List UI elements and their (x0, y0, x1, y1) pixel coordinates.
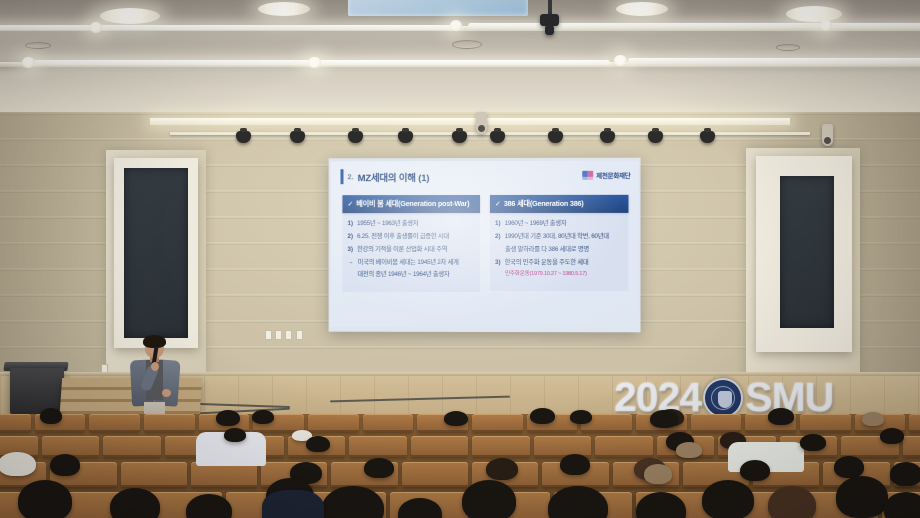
audience-member (702, 480, 754, 518)
bullet-number: 2) (347, 233, 353, 241)
audience-member (322, 486, 384, 518)
audience-member (834, 456, 864, 478)
list-item: 1) 1955년 ~ 1963년 출생자 (347, 220, 475, 228)
cove-light (150, 118, 790, 125)
list-item: 민주화운동(1979.10.27 ~ 1980.5.17) (495, 271, 623, 278)
ceiling-skylight (348, 0, 528, 16)
downlight (258, 2, 310, 16)
audience-member-with-hood (262, 490, 324, 518)
downlight (616, 2, 668, 16)
seat[interactable] (411, 436, 469, 457)
seat[interactable] (0, 414, 31, 432)
seat[interactable] (121, 462, 187, 487)
bullet-number: 3) (495, 259, 501, 267)
strip-light (468, 23, 920, 28)
seat[interactable] (595, 436, 653, 457)
foundation-logo-icon (582, 170, 593, 179)
audience-member (644, 464, 672, 484)
bullet-text: 1990년대 기준 30대, 80년대 학번, 60년대 (505, 233, 609, 241)
speaker-hand-gesture (162, 389, 171, 397)
ceiling-vent (776, 44, 800, 51)
bullet-text: 대전의 종년 1946년 ~ 1964년 출생자 (357, 271, 449, 279)
bullet-text: 한국의 민주화 운동을 주도한 세대 (505, 259, 589, 267)
seat[interactable] (349, 436, 407, 457)
audience-member (800, 434, 826, 451)
audience-member (444, 411, 468, 426)
seat[interactable] (103, 436, 161, 457)
seat[interactable] (472, 436, 530, 457)
column-heading-386: ✓386 세대(Generation 386) (490, 195, 628, 213)
strip-light (628, 58, 920, 63)
list-item: 3) 한강의 기적을 이룬 산업화 시대 주역 (347, 246, 475, 254)
foundation-logo: 제천문화재단 (582, 170, 630, 180)
strip-light (0, 25, 460, 30)
downlight (90, 22, 102, 33)
audience-member (306, 436, 330, 452)
seat[interactable] (144, 414, 195, 432)
column-heading-text: 386 세대(Generation 386) (504, 199, 584, 208)
seat[interactable] (308, 414, 359, 432)
list-item: 2) 6.25. 전쟁 이후 출생률이 급증한 시대 (347, 233, 475, 241)
check-icon: ✓ (495, 199, 501, 208)
audience-member (768, 486, 816, 518)
audience-member (676, 442, 702, 458)
audience-member (768, 408, 794, 425)
check-icon: ✓ (347, 199, 353, 208)
audience-member (50, 454, 80, 476)
light-switch[interactable] (285, 330, 292, 340)
seat[interactable] (903, 436, 920, 457)
bullet-text: 미국의 베이비붐 세대는 1945년 2차 세계 (358, 259, 459, 267)
audience-member (890, 462, 920, 486)
audience-member (560, 454, 590, 475)
column-body-babyboom: 1) 1955년 ~ 1963년 출생자 2) 6.25. 전쟁 이후 출생률이… (342, 213, 480, 292)
ceiling-vent (452, 40, 482, 49)
downlight (22, 57, 35, 68)
slide-column-babyboom: ✓베이비 붐 세대(Generation post-War) 1) 1955년 … (342, 195, 480, 292)
seat[interactable] (909, 414, 920, 432)
foundation-logo-text: 제천문화재단 (596, 170, 630, 180)
hanging-speaker (476, 112, 487, 134)
column-heading-text: 베이비 붐 세대(Generation post-War) (356, 199, 469, 208)
audience-member (880, 428, 904, 444)
list-item: 2) 1990년대 기준 30대, 80년대 학번, 60년대 (495, 233, 623, 241)
ceiling-vent (25, 42, 51, 49)
hanging-speaker (822, 124, 833, 146)
list-item: 1) 1960년 ~ 1969년 출생자 (495, 220, 623, 228)
downlight (820, 20, 832, 31)
auditorium-photo: 2. MZ세대의 이해 (1) 제천문화재단 ✓베이비 붐 세대(Generat… (0, 0, 920, 518)
acoustic-panel-left (124, 168, 188, 338)
audience-member (252, 410, 274, 424)
presentation-slide: 2. MZ세대의 이해 (1) 제천문화재단 ✓베이비 붐 세대(Generat… (331, 161, 639, 328)
downlight (100, 8, 160, 24)
audience-member (364, 458, 394, 478)
university-seal-icon (703, 378, 743, 418)
slide-title: MZ세대의 이해 (1) (358, 170, 430, 184)
slide-column-386: ✓386 세대(Generation 386) 1) 1960년 ~ 1969년… (490, 195, 628, 293)
bullet-number: 1) (495, 220, 501, 228)
audience-member-with-cap (0, 452, 36, 476)
bullet-number: 3) (347, 246, 353, 254)
title-accent-mark (341, 169, 344, 184)
audience-member (110, 488, 160, 518)
downlight (786, 6, 842, 22)
light-switch[interactable] (265, 330, 272, 340)
bullet-text: 출생 말하라를 다 386 세대로 명명 (505, 246, 589, 254)
slide-number: 2. (347, 172, 353, 181)
bullet-number: 1) (347, 220, 353, 228)
audience-member (40, 408, 62, 424)
audience-member (216, 410, 240, 426)
bullet-text: 1955년 ~ 1963년 출생자 (357, 220, 418, 228)
audience-member (862, 412, 884, 426)
bullet-text: 1960년 ~ 1969년 출생자 (505, 220, 567, 228)
audience-member (740, 460, 770, 481)
projection-screen: 2. MZ세대의 이해 (1) 제천문화재단 ✓베이비 붐 세대(Generat… (329, 158, 641, 333)
arrow-marker: → (347, 259, 353, 267)
slide-columns: ✓베이비 붐 세대(Generation post-War) 1) 1955년 … (342, 195, 628, 293)
list-item: 출생 말하라를 다 386 세대로 명명 (495, 246, 623, 254)
downlight (308, 57, 321, 68)
bullet-text: 한강의 기적을 이룬 산업화 시대 주역 (357, 246, 447, 254)
podium (10, 368, 64, 414)
acoustic-panel-right (780, 176, 834, 328)
seat[interactable] (472, 414, 523, 432)
downlight (614, 55, 627, 66)
audience-member (570, 410, 592, 424)
ceiling-projector-lens (545, 25, 554, 35)
seat[interactable] (800, 414, 851, 432)
bullet-text: 6.25. 전쟁 이후 출생률이 급증한 시대 (357, 233, 449, 241)
column-heading-babyboom: ✓베이비 붐 세대(Generation post-War) (342, 195, 480, 213)
list-item: → 미국의 베이비붐 세대는 1945년 2차 세계 (347, 259, 475, 267)
seat[interactable] (691, 414, 742, 432)
bullet-number: 2) (495, 233, 501, 241)
audience-member (486, 458, 518, 480)
audience-member (650, 410, 678, 428)
ceiling (0, 0, 920, 118)
seat[interactable] (363, 414, 414, 432)
audience-member (18, 480, 72, 518)
audience-member (224, 428, 246, 442)
power-outlet[interactable] (296, 330, 303, 340)
bullet-text-highlight: 민주화운동(1979.10.27 ~ 1980.5.17) (505, 271, 587, 278)
light-switch[interactable] (275, 330, 282, 340)
speaker-hand-mic (151, 362, 159, 371)
audience-seating (0, 414, 920, 518)
downlight (450, 20, 462, 31)
list-item: 3) 한국의 민주화 운동을 주도한 세대 (495, 259, 623, 267)
column-body-386: 1) 1960년 ~ 1969년 출생자 2) 1990년대 기준 30대, 8… (490, 213, 628, 292)
slide-title-bar: 2. MZ세대의 이해 (1) (341, 169, 430, 184)
audience-member (548, 486, 608, 518)
audience-member (836, 476, 888, 518)
list-item: 대전의 종년 1946년 ~ 1964년 출생자 (347, 271, 475, 279)
audience-member (462, 480, 516, 518)
seat[interactable] (402, 462, 468, 487)
seat[interactable] (89, 414, 140, 432)
seat[interactable] (534, 436, 592, 457)
audience-member (530, 408, 555, 424)
